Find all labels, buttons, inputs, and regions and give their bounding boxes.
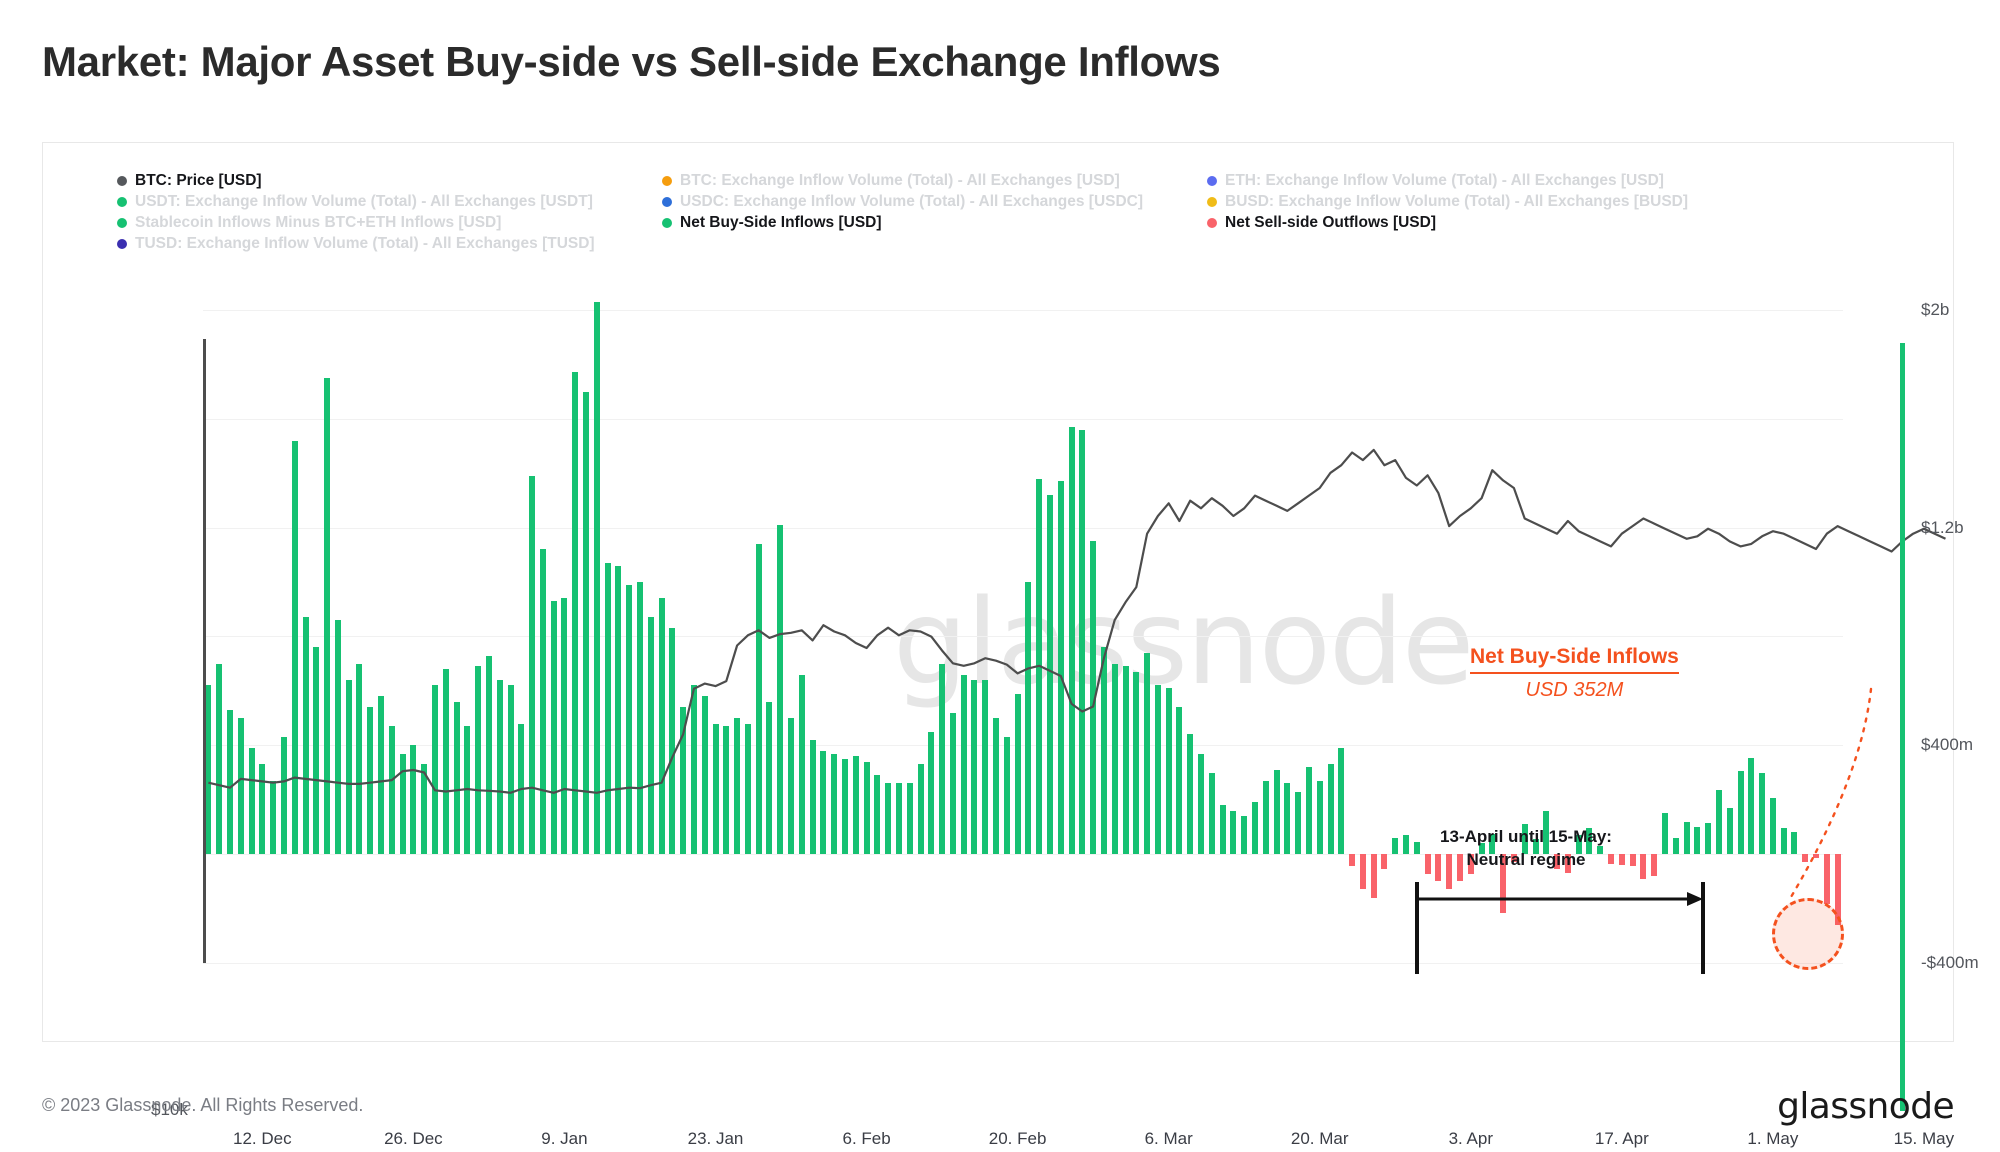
x-axis-tick-label: 12. Dec <box>233 1129 292 1149</box>
x-axis-tick-label: 17. Apr <box>1595 1129 1649 1149</box>
bar-net-buy-side-inflow <box>1090 541 1096 854</box>
bar-net-buy-side-inflow <box>1338 748 1344 854</box>
bar-net-buy-side-inflow <box>1123 666 1129 854</box>
bar-net-sell-side-outflow <box>1349 854 1355 866</box>
bar-net-buy-side-inflow <box>1036 479 1042 855</box>
bar-net-buy-side-inflow <box>1187 734 1193 854</box>
bar-net-buy-side-inflow <box>1328 764 1334 854</box>
legend-color-dot-icon <box>117 218 127 228</box>
bar-net-buy-side-inflow <box>928 732 934 855</box>
x-axis-tick-label: 9. Jan <box>541 1129 587 1149</box>
bar-net-buy-side-inflow <box>626 585 632 854</box>
bar-net-buy-side-inflow <box>1791 832 1797 854</box>
x-axis-tick-label: 20. Feb <box>989 1129 1047 1149</box>
glassnode-watermark: glassnode <box>893 573 1472 711</box>
x-axis-tick-label: 15. May <box>1894 1129 1954 1149</box>
bar-net-buy-side-inflow <box>1694 827 1700 854</box>
legend-color-dot-icon <box>117 239 127 249</box>
bar-net-buy-side-inflow <box>432 685 438 854</box>
bar-net-buy-side-inflow <box>745 724 751 855</box>
bar-net-buy-side-inflow <box>605 563 611 854</box>
bar-net-buy-side-inflow <box>1317 781 1323 855</box>
bar-net-buy-side-inflow <box>367 707 373 854</box>
bar-net-buy-side-inflow <box>723 726 729 854</box>
gridline <box>203 636 1843 637</box>
bar-net-buy-side-inflow <box>1166 688 1172 854</box>
bar-net-buy-side-inflow <box>410 745 416 854</box>
x-axis-tick-label: 3. Apr <box>1449 1129 1493 1149</box>
bar-net-buy-side-inflow <box>918 764 924 854</box>
bar-net-buy-side-inflow <box>1295 792 1301 855</box>
bar-net-buy-side-inflow <box>1274 770 1280 854</box>
bar-net-buy-side-inflow <box>313 647 319 854</box>
legend-item-label: BTC: Price [USD] <box>135 170 262 191</box>
bar-net-buy-side-inflow <box>561 598 567 854</box>
bar-net-buy-side-inflow <box>508 685 514 854</box>
bar-net-buy-side-inflow <box>756 544 762 854</box>
bar-net-buy-side-inflow <box>842 759 848 854</box>
bar-net-buy-side-inflow <box>648 617 654 854</box>
bar-net-buy-side-inflow <box>659 598 665 854</box>
bar-net-buy-side-inflow <box>971 680 977 854</box>
bar-net-buy-side-inflow <box>1284 783 1290 854</box>
bar-net-buy-side-inflow <box>1079 430 1085 855</box>
glassnode-logo: glassnode <box>1777 1086 1954 1127</box>
bar-net-buy-side-inflow <box>799 675 805 855</box>
x-axis-tick-label: 23. Jan <box>688 1129 744 1149</box>
bar-net-buy-side-inflow <box>939 664 945 855</box>
legend-color-dot-icon <box>1207 176 1217 186</box>
bar-net-buy-side-inflow <box>378 696 384 854</box>
gridline <box>203 310 1843 311</box>
x-axis-tick-label: 26. Dec <box>384 1129 443 1149</box>
bar-net-buy-side-inflow <box>1392 838 1398 854</box>
bar-net-buy-side-inflow <box>497 680 503 854</box>
bar-net-buy-side-inflow <box>583 392 589 855</box>
bar-net-buy-side-inflow <box>1198 754 1204 855</box>
bar-net-buy-side-inflow <box>389 726 395 854</box>
bar-net-buy-side-inflow <box>1252 802 1258 854</box>
legend-item[interactable]: BTC: Price [USD] <box>117 170 662 191</box>
bar-net-buy-side-inflow <box>551 601 557 854</box>
bar-net-buy-side-inflow <box>669 628 675 854</box>
bar-net-buy-side-inflow <box>1112 664 1118 855</box>
bar-net-buy-side-inflow <box>1069 427 1075 854</box>
bar-net-buy-side-inflow <box>594 302 600 854</box>
legend-color-dot-icon <box>662 176 672 186</box>
bar-net-buy-side-inflow <box>993 718 999 854</box>
bar-net-buy-side-inflow <box>1144 653 1150 854</box>
bar-net-buy-side-inflow <box>1716 790 1722 854</box>
bar-net-buy-side-inflow <box>1025 582 1031 854</box>
gridline <box>203 419 1843 420</box>
bar-net-buy-side-inflow <box>1015 694 1021 855</box>
bar-net-buy-side-inflow <box>324 378 330 854</box>
chart-card: BTC: Price [USD]BTC: Exchange Inflow Vol… <box>42 142 1954 1042</box>
bar-net-sell-side-outflow <box>1802 854 1808 862</box>
bar-net-buy-side-inflow <box>216 664 222 855</box>
bar-net-buy-side-inflow <box>443 669 449 854</box>
bar-net-buy-side-inflow <box>238 718 244 854</box>
bar-net-buy-side-inflow <box>1705 823 1711 854</box>
bar-net-buy-side-inflow <box>734 718 740 854</box>
bar-net-buy-side-inflow <box>486 656 492 855</box>
bar-net-buy-side-inflow <box>1241 816 1247 854</box>
annotation-neutral-line2: Neutral regime <box>1466 850 1585 869</box>
bar-net-sell-side-outflow <box>1360 854 1366 889</box>
bar-net-buy-side-inflow <box>1673 838 1679 854</box>
bar-net-buy-side-inflow <box>1770 798 1776 854</box>
gridline <box>203 528 1843 529</box>
x-axis-tick-label: 20. Mar <box>1291 1129 1349 1149</box>
annotation-inflow-title: Net Buy-Side Inflows <box>1470 645 1679 674</box>
bar-net-buy-side-inflow <box>702 696 708 854</box>
bar-net-buy-side-inflow <box>292 441 298 855</box>
bar-net-buy-side-inflow <box>1220 805 1226 854</box>
bar-net-buy-side-inflow <box>864 762 870 855</box>
legend-item-label: BTC: Exchange Inflow Volume (Total) - Al… <box>680 170 1120 191</box>
gridline <box>203 745 1843 746</box>
y-axis-tick-label: $1.2b <box>1921 518 1964 538</box>
bar-net-buy-side-inflow <box>820 751 826 854</box>
bar-net-buy-side-inflow <box>540 549 546 854</box>
x-axis-tick-label: 6. Feb <box>842 1129 890 1149</box>
regime-arrow-icon <box>1419 891 1703 907</box>
footer-copyright: © 2023 Glassnode. All Rights Reserved. <box>42 1095 363 1116</box>
bar-net-sell-side-outflow <box>1651 854 1657 876</box>
bar-net-buy-side-inflow <box>713 724 719 855</box>
legend-item-label: ETH: Exchange Inflow Volume (Total) - Al… <box>1225 170 1664 191</box>
bar-net-buy-side-inflow <box>788 718 794 854</box>
legend-item[interactable]: BTC: Exchange Inflow Volume (Total) - Al… <box>662 170 1207 191</box>
bar-net-buy-side-inflow <box>346 680 352 854</box>
bar-net-buy-side-inflow <box>853 756 859 854</box>
bar-net-buy-side-inflow <box>1176 707 1182 854</box>
bar-net-buy-side-inflow <box>572 372 578 854</box>
bar-net-buy-side-inflow <box>529 476 535 854</box>
page-title: Market: Major Asset Buy-side vs Sell-sid… <box>42 38 1220 86</box>
bar-net-buy-side-inflow <box>1738 771 1744 854</box>
bar-net-buy-side-inflow <box>400 754 406 855</box>
bar-net-buy-side-inflow <box>227 710 233 854</box>
annotation-neutral-regime: 13-April until 15-May: Neutral regime <box>1406 826 1646 872</box>
bar-net-buy-side-inflow <box>831 754 837 855</box>
y-axis-tick-label: $2b <box>1921 300 1949 320</box>
bar-net-buy-side-inflow <box>205 685 211 854</box>
bar-net-buy-side-inflow <box>1306 767 1312 854</box>
bar-net-buy-side-inflow <box>907 783 913 854</box>
bar-net-buy-side-inflow <box>615 566 621 855</box>
bar-net-buy-side-inflow <box>874 775 880 854</box>
y-axis-tick-label: -$400m <box>1921 953 1979 973</box>
bar-net-buy-side-inflow <box>464 726 470 854</box>
bar-net-buy-side-inflow <box>454 702 460 854</box>
bar-net-buy-side-inflow <box>281 737 287 854</box>
bar-net-buy-side-inflow <box>1230 811 1236 855</box>
bar-net-buy-side-inflow <box>1047 495 1053 854</box>
legend-color-dot-icon <box>117 197 127 207</box>
bar-net-buy-side-inflow <box>1781 828 1787 854</box>
bar-net-buy-side-inflow <box>1759 773 1765 855</box>
y-axis-left <box>203 339 206 963</box>
bar-net-buy-side-inflow <box>1155 685 1161 854</box>
bar-net-buy-side-inflow <box>270 781 276 855</box>
x-axis-tick-label: 1. May <box>1747 1129 1798 1149</box>
bar-net-buy-side-inflow <box>777 525 783 854</box>
bar-net-buy-side-inflow <box>335 620 341 854</box>
bar-net-sell-side-outflow <box>1813 854 1819 858</box>
bar-net-buy-side-inflow <box>1101 647 1107 854</box>
bar-net-buy-side-inflow <box>259 764 265 854</box>
x-axis-tick-label: 6. Mar <box>1145 1129 1193 1149</box>
bar-net-buy-side-inflow <box>1727 808 1733 854</box>
bar-net-buy-side-inflow <box>303 617 309 854</box>
legend-color-dot-icon <box>117 176 127 186</box>
bar-net-buy-side-inflow <box>885 783 891 854</box>
bar-net-buy-side-inflow <box>1748 758 1754 854</box>
annotation-neutral-line1: 13-April until 15-May: <box>1440 827 1612 846</box>
bar-net-buy-side-inflow <box>691 685 697 854</box>
bar-net-buy-side-inflow <box>1004 737 1010 854</box>
legend-item[interactable]: ETH: Exchange Inflow Volume (Total) - Al… <box>1207 170 1727 191</box>
bar-net-buy-side-inflow <box>1058 481 1064 854</box>
bar-net-buy-side-inflow <box>518 724 524 855</box>
bar-net-buy-side-inflow <box>1133 672 1139 854</box>
gridline <box>203 963 1843 964</box>
bar-net-buy-side-inflow <box>1662 813 1668 854</box>
bar-net-sell-side-outflow <box>1381 854 1387 869</box>
highlight-circle-icon <box>1772 898 1844 970</box>
bar-net-buy-side-inflow <box>356 664 362 855</box>
bar-net-buy-side-inflow <box>637 582 643 854</box>
bar-net-buy-side-inflow <box>950 713 956 855</box>
annotation-inflow-value: USD 352M <box>1470 679 1679 702</box>
y-axis-tick-label: $400m <box>1921 735 1973 755</box>
bar-net-buy-side-inflow <box>421 764 427 854</box>
bar-net-buy-side-inflow <box>475 666 481 854</box>
bar-net-sell-side-outflow <box>1371 854 1377 898</box>
bar-net-buy-side-inflow <box>1263 781 1269 855</box>
bar-net-buy-side-inflow <box>249 748 255 854</box>
bar-net-buy-side-inflow <box>680 707 686 854</box>
bar-net-buy-side-inflow <box>1209 773 1215 855</box>
annotation-net-buy-side-inflows: Net Buy-Side Inflows USD 352M <box>1470 645 1679 702</box>
bar-net-buy-side-inflow <box>982 680 988 854</box>
bar-net-buy-side-inflow <box>896 783 902 854</box>
bar-net-sell-side-outflow <box>1824 854 1830 904</box>
bar-net-buy-side-inflow <box>1684 822 1690 855</box>
bar-net-buy-side-inflow <box>766 702 772 854</box>
bar-net-buy-side-inflow <box>810 740 816 854</box>
bar-net-buy-side-inflow <box>961 675 967 855</box>
y-axis-right <box>1900 343 1905 1111</box>
